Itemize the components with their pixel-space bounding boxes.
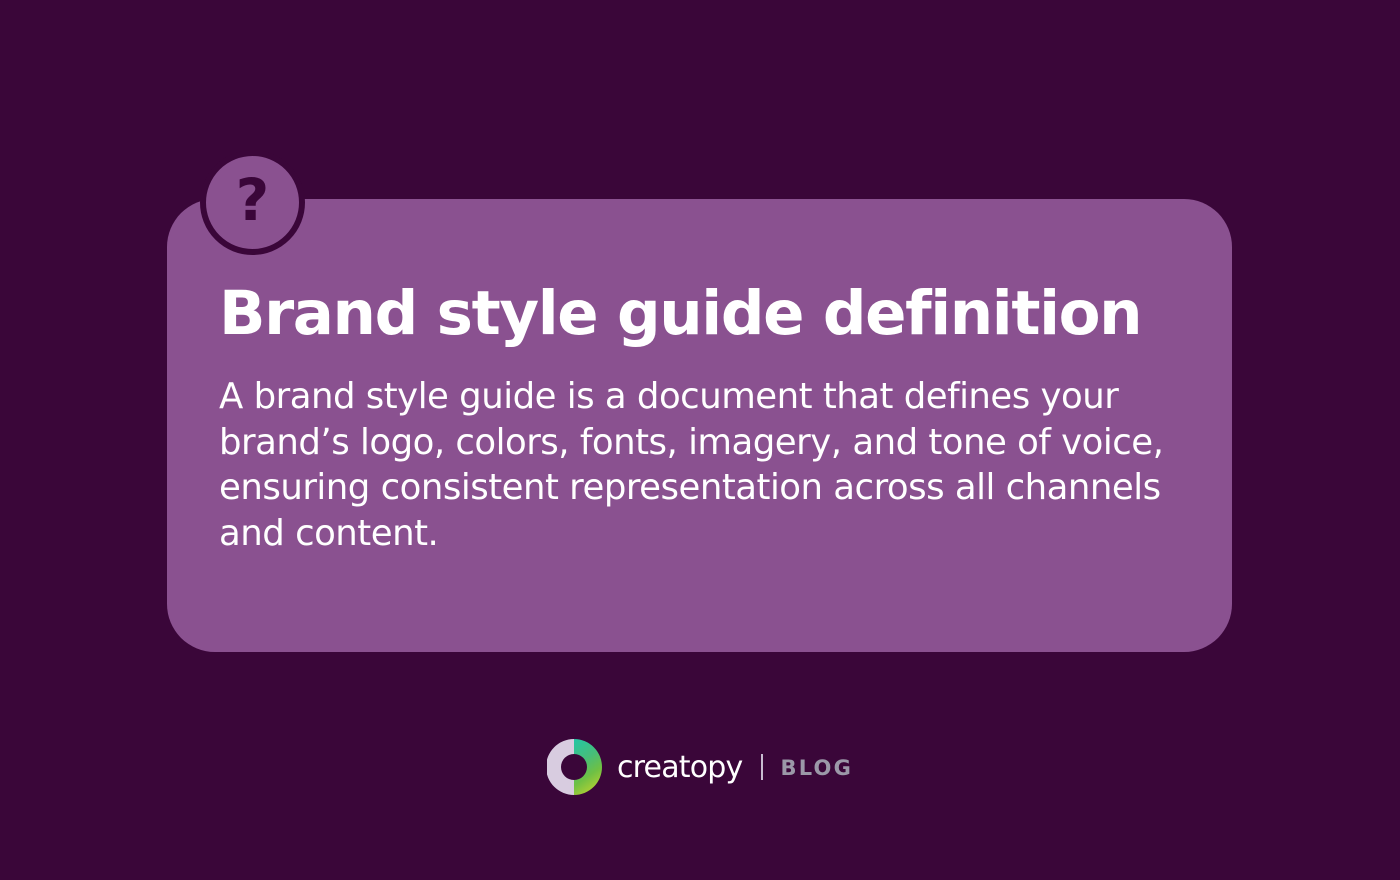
brand-lockup: creatopy BLOG [0, 736, 1400, 798]
brand-divider [761, 754, 763, 780]
poster-canvas: ? Brand style guide definition A brand s… [0, 0, 1400, 880]
definition-paragraph: A brand style guide is a document that d… [219, 374, 1179, 556]
card-content: Brand style guide definition A brand sty… [219, 199, 1204, 556]
page-title: Brand style guide definition [219, 283, 1204, 344]
brand-wordmark: creatopy [617, 753, 743, 783]
creatopy-logo-mark [547, 736, 603, 798]
brand-tagline: BLOG [781, 758, 854, 779]
